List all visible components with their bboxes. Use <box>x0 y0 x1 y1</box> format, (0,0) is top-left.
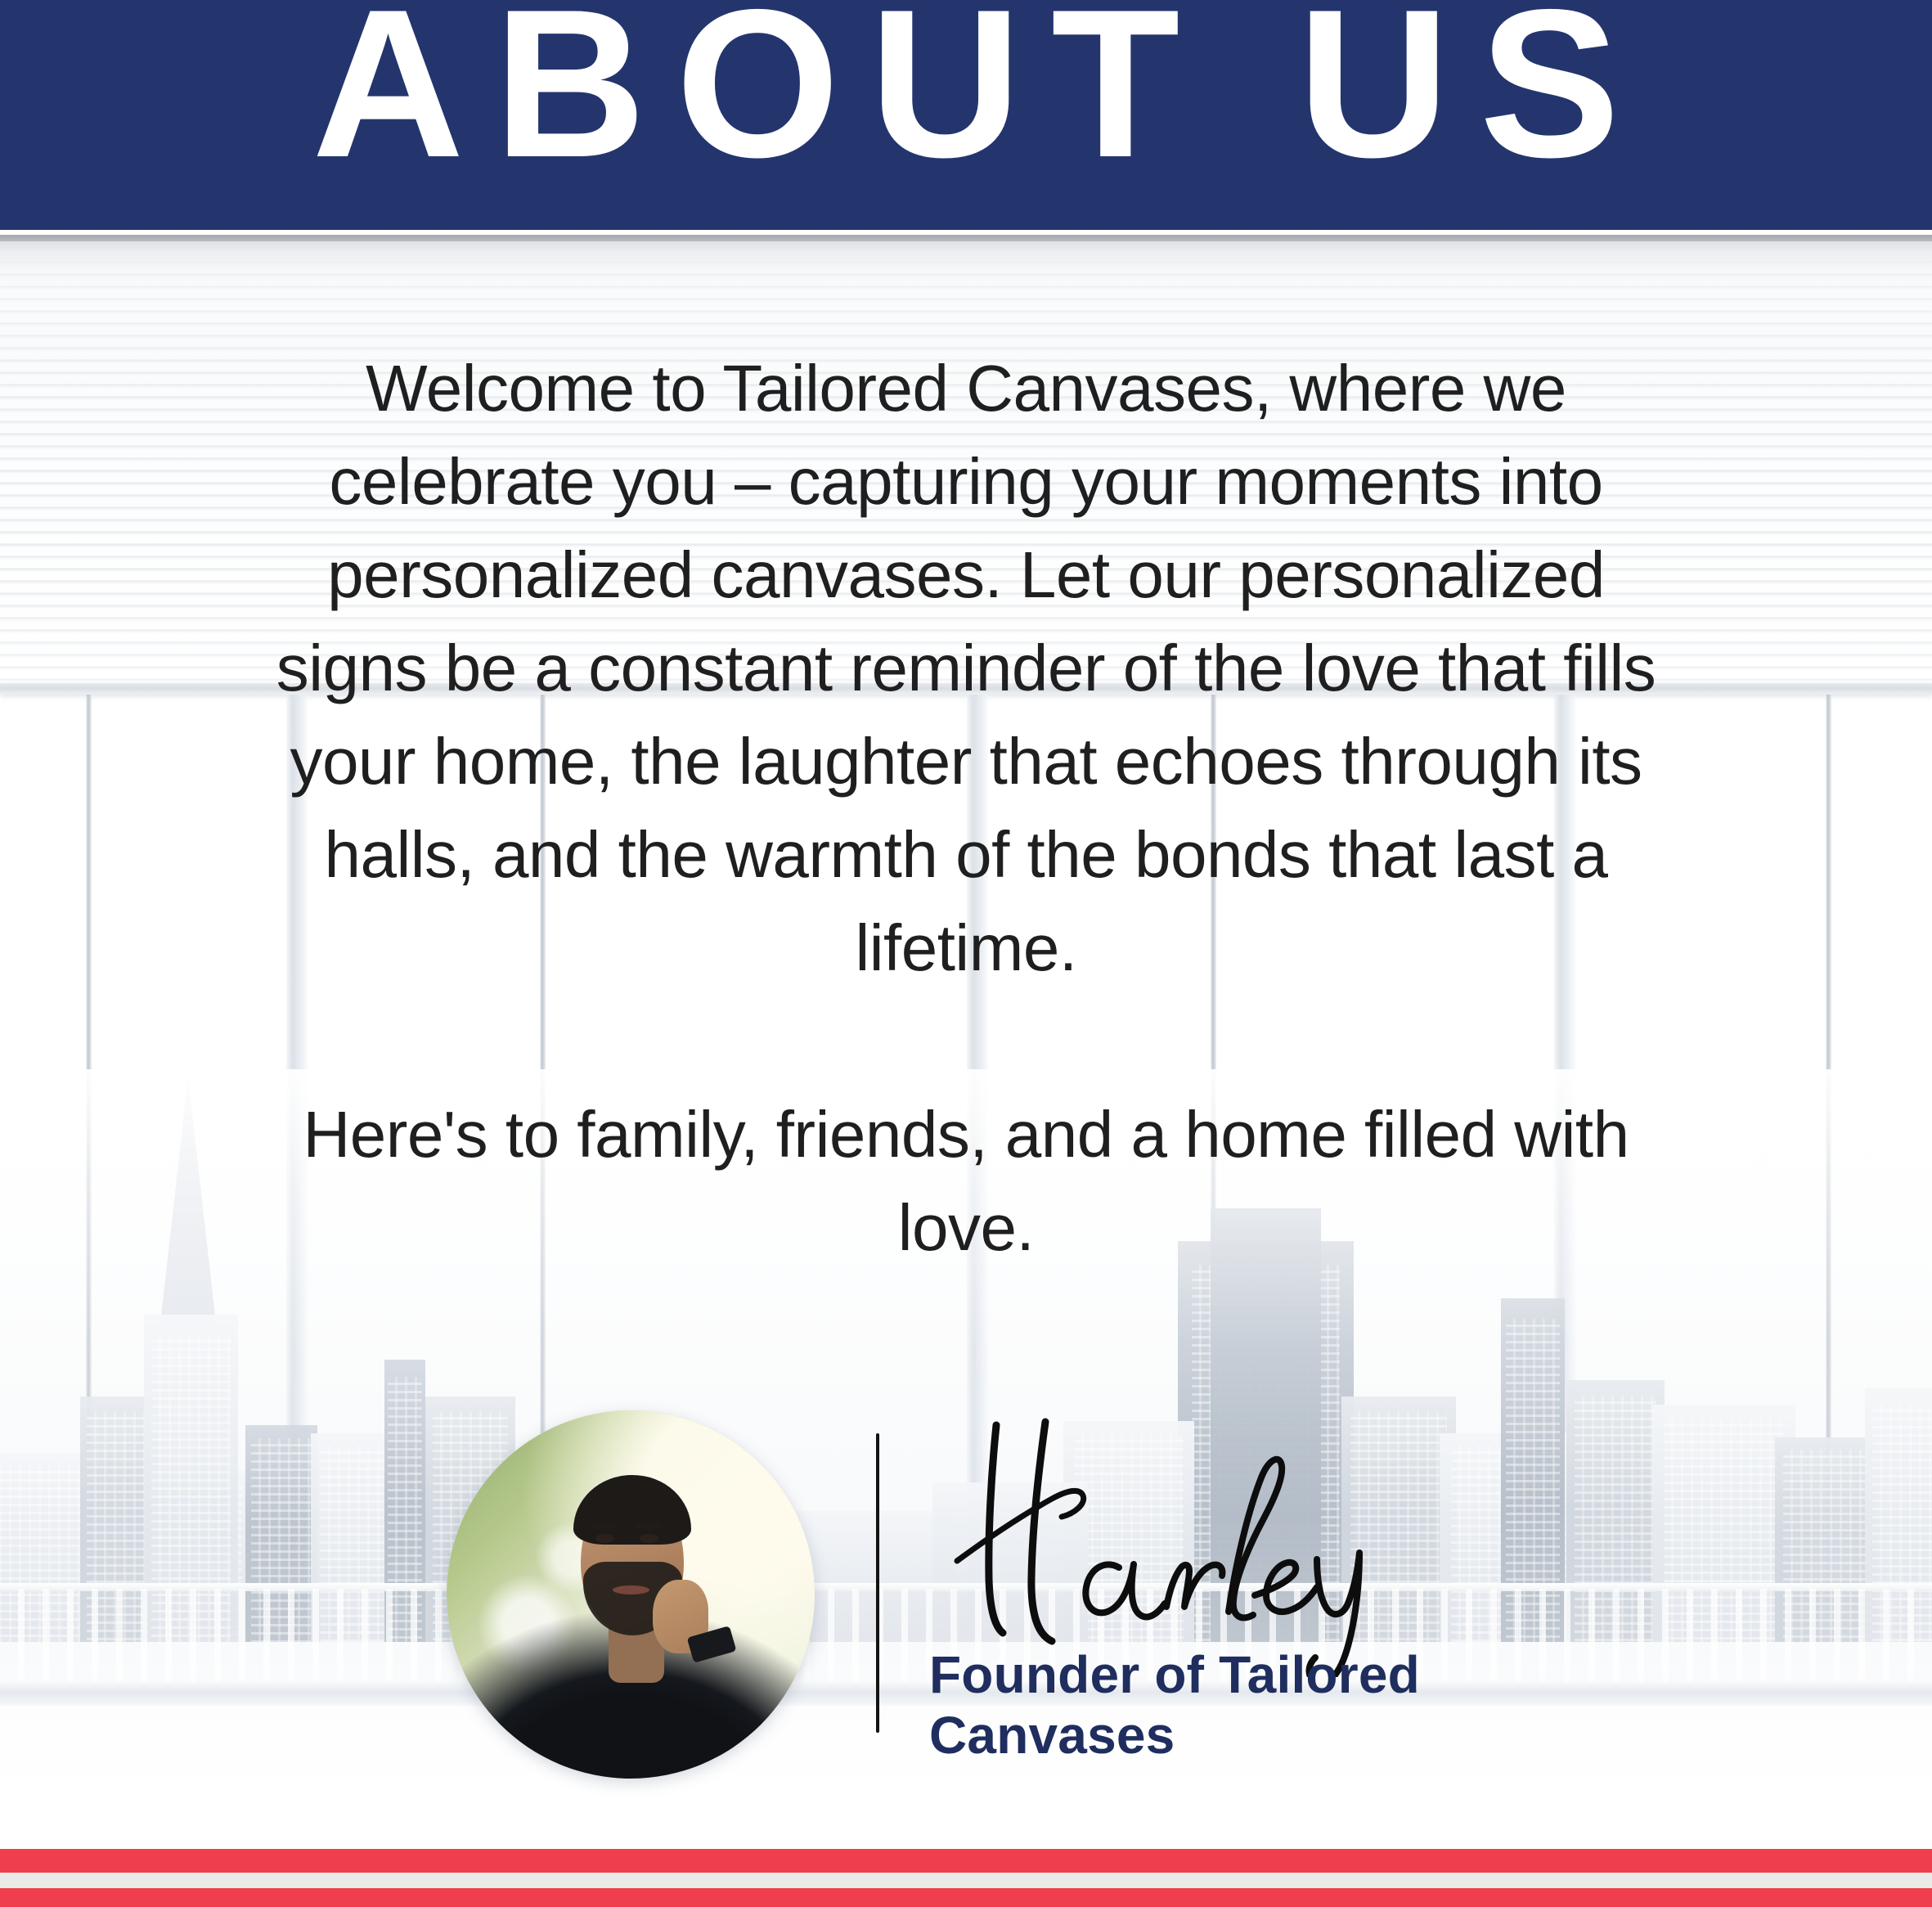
founder-title: Founder of Tailored Canvases <box>929 1644 1600 1765</box>
footer-stripe-bottom <box>0 1888 1932 1907</box>
avatar <box>447 1410 815 1779</box>
signature-divider <box>876 1433 879 1733</box>
page-title: ABOUT US <box>0 0 1932 206</box>
founder-title-line-1: Founder of Tailored <box>929 1644 1600 1705</box>
header-band: ABOUT US <box>0 0 1932 230</box>
footer-stripe-gap <box>0 1873 1932 1888</box>
about-us-poster: ABOUT US Welcome to Tailored Canvases, w… <box>0 0 1932 1907</box>
founder-title-line-2: Canvases <box>929 1705 1600 1765</box>
about-us-copy: Welcome to Tailored Canvases, where we c… <box>260 342 1672 1275</box>
about-paragraph-1: Welcome to Tailored Canvases, where we c… <box>260 342 1672 995</box>
signature-harley <box>908 1407 1530 1677</box>
footer-stripe-top <box>0 1849 1932 1873</box>
avatar-mouth <box>613 1585 649 1594</box>
avatar-eyebrow-right <box>636 1522 662 1529</box>
avatar-eyebrow-left <box>591 1522 618 1529</box>
about-paragraph-2: Here's to family, friends, and a home fi… <box>260 1088 1672 1275</box>
